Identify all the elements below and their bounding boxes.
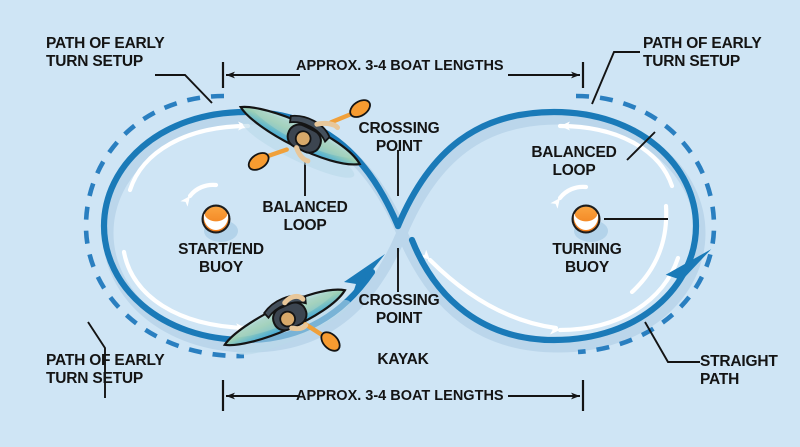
label-path-early-turn-bottom-left: PATH OF EARLY TURN SETUP [46, 352, 226, 387]
dimension-label-top: APPROX. 3-4 BOAT LENGTHS [296, 58, 504, 74]
label-path-early-turn-top-left: PATH OF EARLY TURN SETUP [46, 35, 226, 70]
direction-arc-left-buoy [190, 185, 216, 196]
direction-arc-right-buoy [560, 187, 586, 198]
label-turning-buoy: TURNING BUOY [534, 241, 640, 276]
label-crossing-point-top: CROSSING POINT [340, 120, 458, 155]
buoy-icon-start-end [202, 205, 239, 243]
leader-early-turn-top-left [155, 75, 212, 103]
label-start-end-buoy: START/END BUOY [166, 241, 276, 276]
diagram-canvas: PATH OF EARLY TURN SETUP PATH OF EARLY T… [0, 0, 800, 447]
label-straight-path: STRAIGHT PATH [700, 353, 800, 388]
leader-early-turn-top-right [592, 52, 640, 104]
label-kayak: KAYAK [357, 351, 449, 369]
leader-straight-path [645, 322, 700, 362]
buoy-icon-turning [572, 205, 609, 243]
label-balanced-loop-right: BALANCED LOOP [521, 144, 627, 179]
label-crossing-point-bottom: CROSSING POINT [340, 292, 458, 327]
label-path-early-turn-top-right: PATH OF EARLY TURN SETUP [643, 35, 800, 70]
label-balanced-loop-left: BALANCED LOOP [252, 199, 358, 234]
dimension-label-bottom: APPROX. 3-4 BOAT LENGTHS [296, 388, 504, 404]
direction-arc-left-top [130, 126, 248, 190]
